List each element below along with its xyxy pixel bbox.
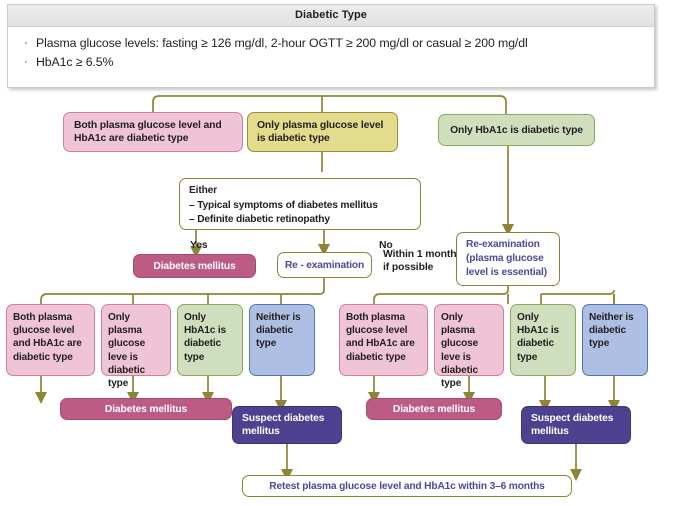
node-label: Re - examination	[278, 260, 371, 271]
node-left-neither-diabetic[interactable]: Neither is diabetic type	[249, 304, 315, 376]
node-either-criteria[interactable]: Either – Typical symptoms of diabetes me…	[179, 178, 421, 230]
within-line-1: Within 1 month	[383, 248, 457, 261]
node-label: Only plasma glucose level is diabetic ty…	[257, 119, 388, 146]
node-left-both-diabetic[interactable]: Both plasma glucose level and HbA1c are …	[6, 304, 95, 376]
node-label: Only plasma glucose leve is diabetic typ…	[441, 311, 497, 390]
node-reexamination-plasma-glucose-essential[interactable]: Re-examination (plasma glucose level is …	[456, 232, 560, 286]
bullet-glyph: ·	[24, 34, 36, 53]
node-label: Only plasma glucose leve is diabetic typ…	[108, 311, 164, 390]
node-label: Diabetes mellitus	[61, 404, 231, 415]
either-item: – Definite diabetic retinopathy	[189, 213, 411, 228]
node-label: Only HbA1c is diabetic type	[517, 311, 569, 364]
node-suspect-diabetes-mellitus-right[interactable]: Suspect diabetes mellitus	[521, 406, 631, 444]
criteria-line-text: Plasma glucose levels: fasting ≥ 126 mg/…	[36, 36, 528, 50]
node-right-only-hba1c-diabetic[interactable]: Only HbA1c is diabetic type	[510, 304, 576, 376]
branch-label-within-one-month: Within 1 month if possible	[383, 248, 457, 274]
node-label: Diabetes mellitus	[367, 404, 501, 415]
node-reexamination[interactable]: Re - examination	[277, 252, 372, 278]
node-label: Both plasma glucose level and HbA1c are …	[346, 311, 421, 364]
node-retest-bar[interactable]: Retest plasma glucose level and HbA1c wi…	[242, 475, 572, 497]
node-label: Both plasma glucose level and HbA1c are …	[13, 311, 88, 364]
criteria-panel: Diabetic Type ·Plasma glucose levels: fa…	[7, 4, 655, 88]
node-suspect-diabetes-mellitus-left[interactable]: Suspect diabetes mellitus	[232, 406, 342, 444]
node-left-only-plasma-glucose-diabetic[interactable]: Only plasma glucose leve is diabetic typ…	[101, 304, 171, 376]
node-label-line-1: Re-examination	[466, 238, 550, 252]
criteria-line-text: HbA1c ≥ 6.5%	[36, 55, 113, 69]
node-label: Diabetes mellitus	[134, 261, 255, 272]
node-label: Only HbA1c is diabetic type	[448, 125, 585, 136]
node-label: Retest plasma glucose level and HbA1c wi…	[243, 481, 571, 492]
node-label: Only HbA1c is diabetic type	[184, 311, 236, 364]
node-label-line-2: (plasma glucose	[466, 252, 550, 266]
node-label-line-3: level is essential)	[466, 266, 550, 280]
either-item: – Typical symptoms of diabetes mellitus	[189, 199, 411, 214]
node-right-only-plasma-glucose-diabetic[interactable]: Only plasma glucose leve is diabetic typ…	[434, 304, 504, 376]
node-label: Suspect diabetes mellitus	[531, 412, 621, 439]
node-right-both-diabetic[interactable]: Both plasma glucose level and HbA1c are …	[339, 304, 428, 376]
node-left-only-hba1c-diabetic[interactable]: Only HbA1c is diabetic type	[177, 304, 243, 376]
node-label: Neither is diabetic type	[256, 311, 308, 351]
criteria-panel-title: Diabetic Type	[8, 5, 654, 27]
node-both-plasma-glucose-and-hba1c-diabetic[interactable]: Both plasma glucose level and HbA1c are …	[63, 112, 243, 152]
within-line-2: if possible	[383, 261, 457, 274]
flowchart: Both plasma glucose level and HbA1c are …	[0, 88, 676, 506]
node-diabetes-mellitus-left[interactable]: Diabetes mellitus	[60, 398, 232, 420]
either-heading: Either	[189, 184, 411, 199]
criteria-panel-body: ·Plasma glucose levels: fasting ≥ 126 mg…	[8, 27, 654, 72]
bullet-glyph: ·	[24, 53, 36, 72]
node-right-neither-diabetic[interactable]: Neither is diabetic type	[582, 304, 648, 376]
node-label: Suspect diabetes mellitus	[242, 412, 332, 439]
branch-label-yes: Yes	[190, 240, 208, 251]
node-label: Neither is diabetic type	[589, 311, 641, 351]
node-only-hba1c-diabetic[interactable]: Only HbA1c is diabetic type	[438, 114, 595, 146]
node-diabetes-mellitus-right[interactable]: Diabetes mellitus	[366, 398, 502, 420]
criteria-line: ·HbA1c ≥ 6.5%	[24, 53, 654, 72]
node-diabetes-mellitus-primary[interactable]: Diabetes mellitus	[133, 254, 256, 278]
criteria-line: ·Plasma glucose levels: fasting ≥ 126 mg…	[24, 34, 654, 53]
node-only-plasma-glucose-diabetic[interactable]: Only plasma glucose level is diabetic ty…	[247, 112, 398, 152]
node-label: Both plasma glucose level and HbA1c are …	[74, 119, 232, 146]
